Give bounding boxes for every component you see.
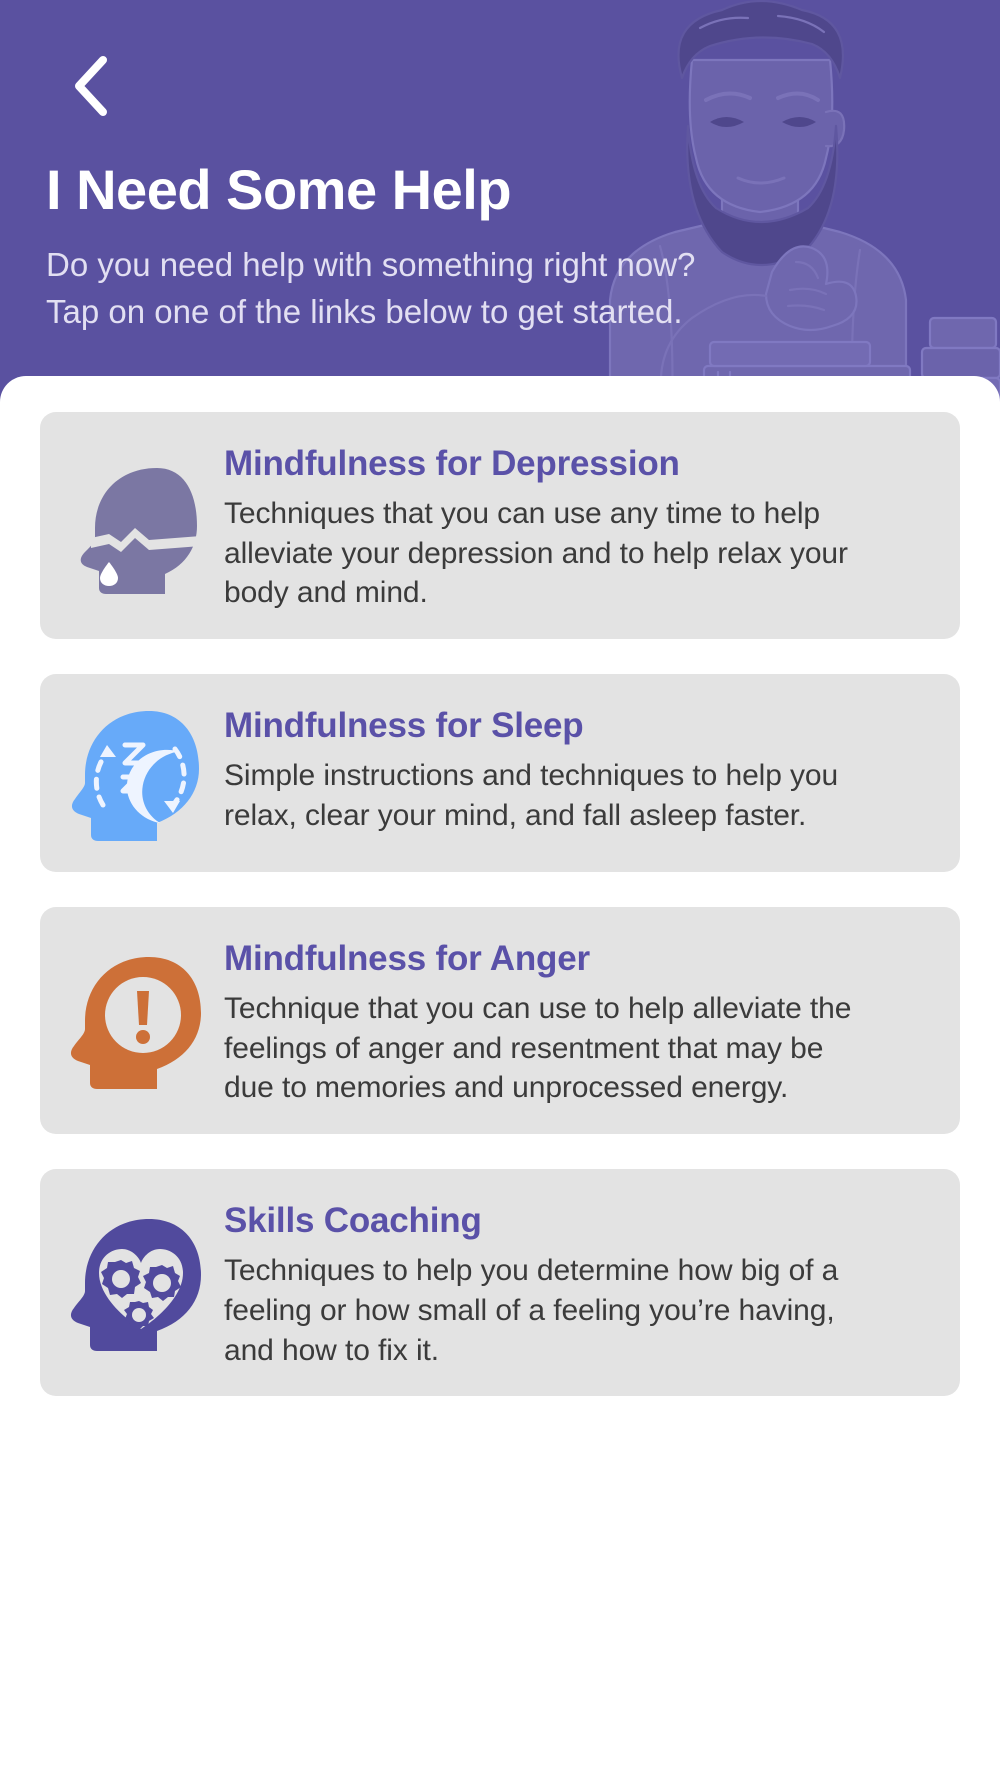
card-description-line-1: Simple instructions and techniques to he… [224,756,936,796]
card-description: Technique that you can use to help allev… [224,989,936,1108]
card-description: Techniques to help you determine how big… [224,1251,936,1370]
card-body: Mindfulness for Anger Technique that you… [214,929,936,1108]
card-description-line-2: alleviate your depression and to help re… [224,534,936,574]
card-body: Skills Coaching Techniques to help you d… [214,1191,936,1370]
page-subtitle-line-2: Tap on one of the links below to get sta… [46,289,786,336]
card-title: Mindfulness for Anger [224,939,936,979]
head-crack-teardrop-icon [64,449,214,599]
card-mindfulness-for-depression[interactable]: Mindfulness for Depression Techniques th… [40,412,960,639]
card-description: Techniques that you can use any time to … [224,494,936,613]
card-description-line-2: feelings of anger and resentment that ma… [224,1029,936,1069]
content-sheet: Mindfulness for Depression Techniques th… [0,376,1000,1778]
page-title: I Need Some Help [46,162,511,218]
back-button[interactable] [52,48,128,124]
head-heart-gears-icon [64,1206,214,1356]
head-exclamation-icon [64,944,214,1094]
screen-i-need-some-help: I Need Some Help Do you need help with s… [0,0,1000,1778]
thinking-man-illustration [460,0,1000,420]
card-description-line-2: feeling or how small of a feeling you’re… [224,1291,936,1331]
card-body: Mindfulness for Depression Techniques th… [214,434,936,613]
card-title: Mindfulness for Depression [224,444,936,484]
card-description-line-3: and how to fix it. [224,1331,936,1371]
card-body: Mindfulness for Sleep Simple instruction… [214,696,936,835]
card-description: Simple instructions and techniques to he… [224,756,936,835]
card-title: Mindfulness for Sleep [224,706,936,746]
card-description-line-1: Techniques to help you determine how big… [224,1251,936,1291]
card-description-line-3: body and mind. [224,573,936,613]
card-description-line-3: due to memories and unprocessed energy. [224,1068,936,1108]
card-description-line-2: relax, clear your mind, and fall asleep … [224,796,936,836]
card-title: Skills Coaching [224,1201,936,1241]
card-description-line-1: Technique that you can use to help allev… [224,989,936,1029]
chevron-left-icon [70,55,110,117]
card-skills-coaching[interactable]: Skills Coaching Techniques to help you d… [40,1169,960,1396]
card-description-line-1: Techniques that you can use any time to … [224,494,936,534]
page-subtitle: Do you need help with something right no… [46,242,786,336]
page-header: I Need Some Help Do you need help with s… [0,0,1000,432]
page-subtitle-line-1: Do you need help with something right no… [46,242,786,289]
head-moon-sleep-icon [64,696,214,846]
card-mindfulness-for-anger[interactable]: Mindfulness for Anger Technique that you… [40,907,960,1134]
card-mindfulness-for-sleep[interactable]: Mindfulness for Sleep Simple instruction… [40,674,960,872]
help-options-list: Mindfulness for Depression Techniques th… [0,412,1000,1431]
